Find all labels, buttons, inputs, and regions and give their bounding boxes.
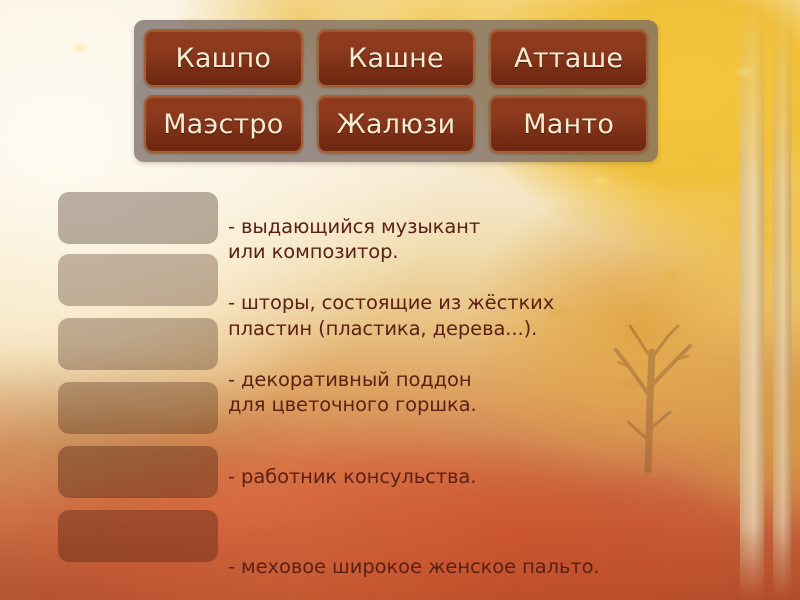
- drop-slot-1[interactable]: [58, 192, 218, 244]
- definition-3: - декоративный поддон для цветочного гор…: [228, 367, 788, 418]
- definition-list: - выдающийся музыкант или композитор. - …: [228, 188, 788, 600]
- drop-slot-column: [58, 192, 218, 562]
- drop-slot-3[interactable]: [58, 318, 218, 370]
- definition-4: - работник консульства.: [228, 464, 788, 490]
- drop-slot-4[interactable]: [58, 382, 218, 434]
- word-tile-attashe[interactable]: Атташе: [489, 29, 648, 87]
- word-tile-kashpo[interactable]: Кашпо: [144, 29, 303, 87]
- word-tile-kashne[interactable]: Кашне: [317, 29, 476, 87]
- word-tile-row-2: Маэстро Жалюзи Манто: [144, 95, 648, 153]
- word-tile-maestro[interactable]: Маэстро: [144, 95, 303, 153]
- drop-slot-5[interactable]: [58, 446, 218, 498]
- drop-slot-2[interactable]: [58, 254, 218, 306]
- definition-2: - шторы, состоящие из жёстких пластин (п…: [228, 290, 788, 341]
- word-tile-zhalyuzi[interactable]: Жалюзи: [317, 95, 476, 153]
- word-tile-row-1: Кашпо Кашне Атташе: [144, 29, 648, 87]
- drop-slot-6[interactable]: [58, 510, 218, 562]
- definition-5: - меховое широкое женское пальто.: [228, 554, 788, 580]
- activity-stage: Кашпо Кашне Атташе Маэстро Жалюзи Манто …: [0, 0, 800, 600]
- word-tile-panel: Кашпо Кашне Атташе Маэстро Жалюзи Манто: [134, 20, 658, 162]
- word-tile-manto[interactable]: Манто: [489, 95, 648, 153]
- definition-1: - выдающийся музыкант или композитор.: [228, 214, 788, 265]
